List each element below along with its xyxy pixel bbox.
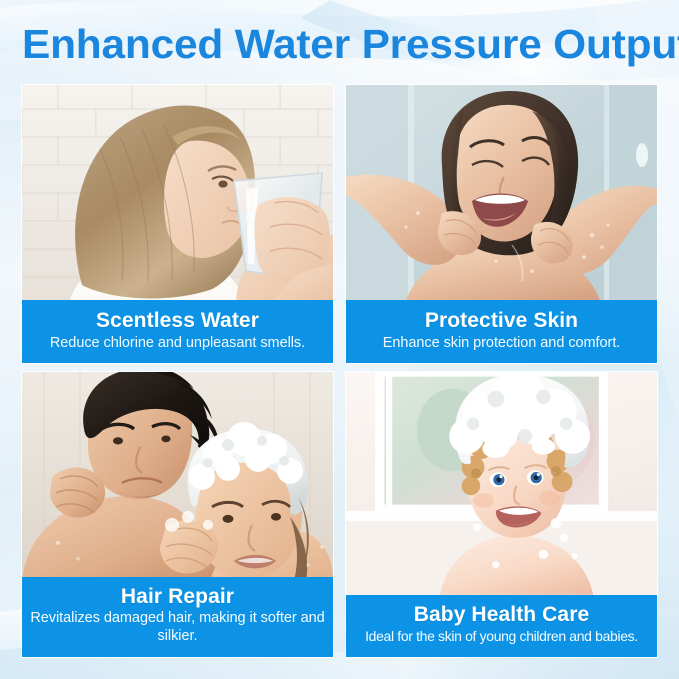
card-caption: Hair Repair Revitalizes damaged hair, ma… — [22, 577, 333, 657]
feature-card[interactable]: Protective Skin Enhance skin protection … — [346, 85, 657, 363]
card-title: Baby Health Care — [354, 603, 649, 627]
card-caption: Baby Health Care Ideal for the skin of y… — [346, 595, 657, 657]
card-description: Enhance skin protection and comfort. — [354, 335, 649, 352]
card-title: Scentless Water — [30, 309, 325, 333]
card-caption: Scentless Water Reduce chlorine and unpl… — [22, 300, 333, 363]
page-title: Enhanced Water Pressure Output — [22, 21, 679, 67]
card-caption: Protective Skin Enhance skin protection … — [346, 300, 657, 363]
feature-card-grid: Scentless Water Reduce chlorine and unpl… — [22, 85, 657, 657]
feature-card[interactable]: Scentless Water Reduce chlorine and unpl… — [22, 85, 333, 363]
infographic-page: Enhanced Water Pressure Output — [0, 0, 679, 679]
card-description: Reduce chlorine and unpleasant smells. — [30, 335, 325, 352]
card-title: Protective Skin — [354, 309, 649, 333]
card-description: Revitalizes damaged hair, making it soft… — [30, 610, 325, 645]
card-description: Ideal for the skin of young children and… — [354, 628, 649, 645]
baby-with-foam-photo — [346, 372, 657, 595]
girl-drinking-water-photo — [22, 85, 333, 300]
couple-shampooing-hair-photo — [22, 372, 333, 577]
feature-card[interactable]: Hair Repair Revitalizes damaged hair, ma… — [22, 372, 333, 657]
card-title: Hair Repair — [30, 585, 325, 609]
feature-card[interactable]: Baby Health Care Ideal for the skin of y… — [346, 372, 657, 657]
woman-showering-photo — [346, 85, 657, 300]
